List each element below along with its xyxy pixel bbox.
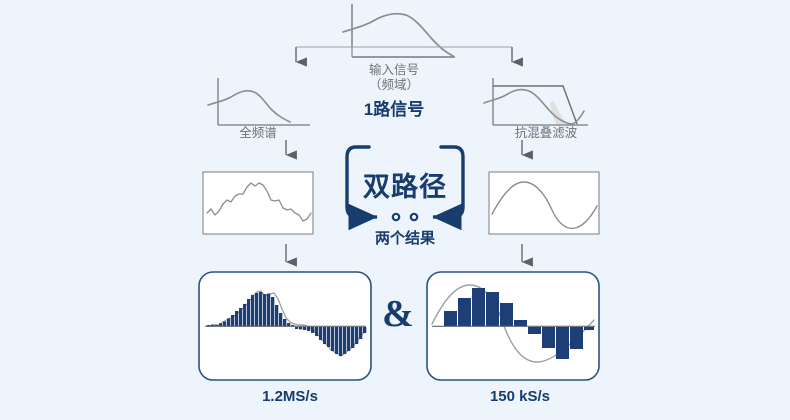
rate-label-low: 150 kS/s [440, 388, 600, 406]
one-signal-label: 1路信号 [334, 100, 454, 120]
badge-subtitle: 两个结果 [345, 230, 465, 248]
card-high-rate-result [199, 272, 371, 380]
ampersand-symbol: & [376, 292, 420, 336]
input-signal-caption-line1: 输入信号 [369, 63, 419, 77]
panel-noisy-waveform [203, 172, 313, 234]
input-signal-caption: 输入信号 （频域） [332, 63, 456, 93]
connector-split-top [296, 47, 512, 62]
chart-anti-alias-filter [484, 78, 588, 125]
chart-input-spectrum [343, 4, 455, 57]
branch-label-full-spectrum: 全频谱 [198, 126, 318, 141]
chart-full-spectrum [208, 78, 310, 125]
input-signal-caption-line2: （频域） [332, 78, 456, 93]
diagram-canvas: 输入信号 （频域） 1路信号 全频谱 抗混叠滤波 双路径 两个结果 & 1.2M… [0, 0, 790, 420]
connector-to-mid-panels [286, 140, 522, 155]
branch-label-anti-alias: 抗混叠滤波 [478, 126, 614, 141]
card-low-rate-result [427, 272, 599, 380]
panel-sine-waveform [489, 172, 599, 234]
badge-title: 双路径 [345, 165, 465, 204]
rate-label-high: 1.2MS/s [210, 388, 370, 406]
